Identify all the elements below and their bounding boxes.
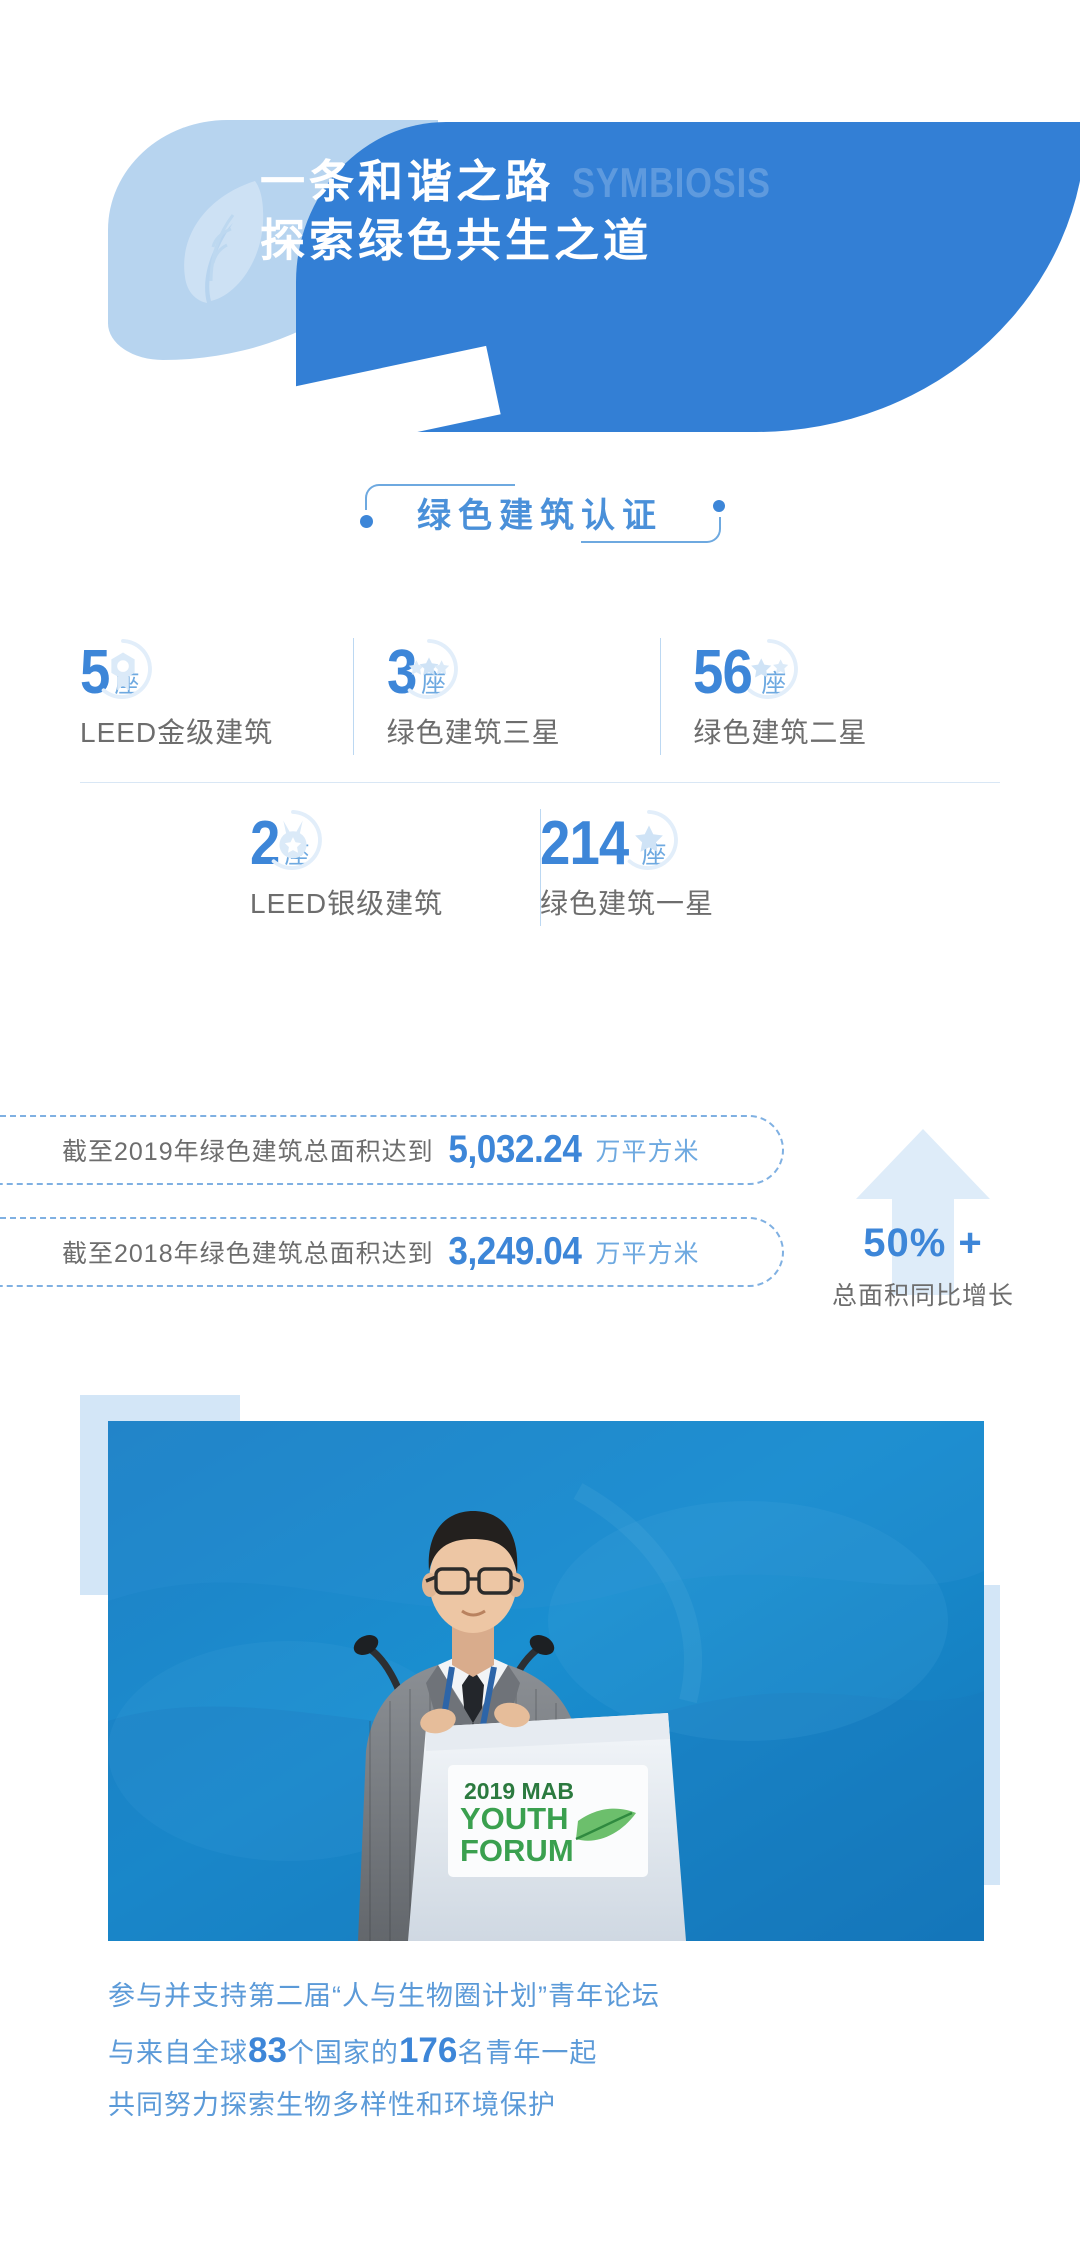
medal-ribbon-icon [262, 809, 324, 871]
area-pill-2018: 截至2018年绿色建筑总面积达到 3,249.04 万平方米 [0, 1217, 784, 1287]
caption-line-1: 参与并支持第二届“人与生物圈计划”青年论坛 [108, 1973, 984, 2020]
stat-label: 绿色建筑三星 [387, 711, 694, 751]
stat-label: 绿色建筑二星 [693, 711, 1000, 751]
caption-countries-count: 83 [248, 2031, 287, 2070]
header-title-cn-line1: 一条和谐之路 [260, 152, 554, 211]
growth-indicator: 50% + 总面积同比增长 [818, 1133, 1028, 1312]
caption-line2-part-a: 与来自全球 [108, 2038, 248, 2068]
stat-item-leed-silver: 2 座 LEED银级建筑 [250, 797, 540, 936]
stat-item-leed-gold: 5 座 LEED金级建筑 [80, 626, 387, 765]
stat-item-green-1star: 214 座 绿色建筑一星 [540, 797, 830, 936]
stat-number: 214 [540, 815, 628, 874]
two-star-icon [738, 638, 800, 700]
speaker-at-podium-photo: 2019 MAB YOUTH FORUM [108, 1421, 984, 1941]
one-star-icon [618, 809, 680, 871]
header-banner: 一条和谐之路 SYMBIOSIS 探索绿色共生之道 [0, 0, 1080, 470]
up-arrow-icon [854, 1125, 992, 1295]
stats-row-1: 5 座 LEED金级建筑 3 座 [0, 626, 1080, 765]
title-decoration-bottom-right [581, 517, 721, 543]
area-prefix: 截至2019年绿色建筑总面积达到 [62, 1132, 434, 1168]
stat-item-green-2star: 56 座 绿色建筑二星 [693, 626, 1000, 765]
caption-line-3: 共同努力探索生物多样性和环境保护 [108, 2082, 984, 2129]
caption-line-2: 与来自全球83个国家的176名青年一起 [108, 2020, 984, 2081]
title-decoration-top-left [365, 484, 515, 510]
growth-label: 总面积同比增长 [818, 1276, 1028, 1312]
header-title-en: SYMBIOSIS [572, 159, 771, 207]
stat-item-green-3star: 3 座 绿色建筑三星 [387, 626, 694, 765]
leaf-icon [175, 175, 271, 305]
stats-row-2: 2 座 LEED银级建筑 214 座 [0, 797, 1080, 936]
header-title-block: 一条和谐之路 SYMBIOSIS 探索绿色共生之道 [260, 152, 814, 271]
stat-label: LEED金级建筑 [80, 711, 387, 751]
section-title-row: 绿色建筑认证 [0, 488, 1080, 537]
stat-label: 绿色建筑一星 [540, 882, 830, 922]
three-star-icon [398, 638, 460, 700]
area-unit: 万平方米 [595, 1234, 699, 1270]
caption-youth-count: 176 [399, 2031, 457, 2070]
area-number: 5,032.24 [448, 1128, 581, 1172]
growth-percent: 50% + [818, 1221, 1028, 1266]
header-notch [296, 346, 501, 432]
area-prefix: 截至2018年绿色建筑总面积达到 [62, 1234, 434, 1270]
area-number: 3,249.04 [448, 1230, 581, 1274]
caption-line2-part-b: 个国家的 [287, 2038, 399, 2068]
stat-label: LEED银级建筑 [250, 882, 540, 922]
stats-divider-h [80, 782, 1000, 783]
svg-text:YOUTH: YOUTH [460, 1801, 569, 1836]
caption-line2-part-c: 名青年一起 [457, 2038, 597, 2068]
photo-caption: 参与并支持第二届“人与生物圈计划”青年论坛 与来自全球83个国家的176名青年一… [108, 1973, 984, 2129]
medal-badge-icon [92, 638, 154, 700]
area-unit: 万平方米 [595, 1132, 699, 1168]
area-pill-2019: 截至2019年绿色建筑总面积达到 5,032.24 万平方米 [0, 1115, 784, 1185]
area-stats-section: 截至2019年绿色建筑总面积达到 5,032.24 万平方米 截至2018年绿色… [0, 1115, 1080, 1287]
stats-grid: 5 座 LEED金级建筑 3 座 [0, 626, 1080, 936]
header-title-cn-line2: 探索绿色共生之道 [260, 211, 814, 270]
svg-text:FORUM: FORUM [460, 1833, 574, 1868]
